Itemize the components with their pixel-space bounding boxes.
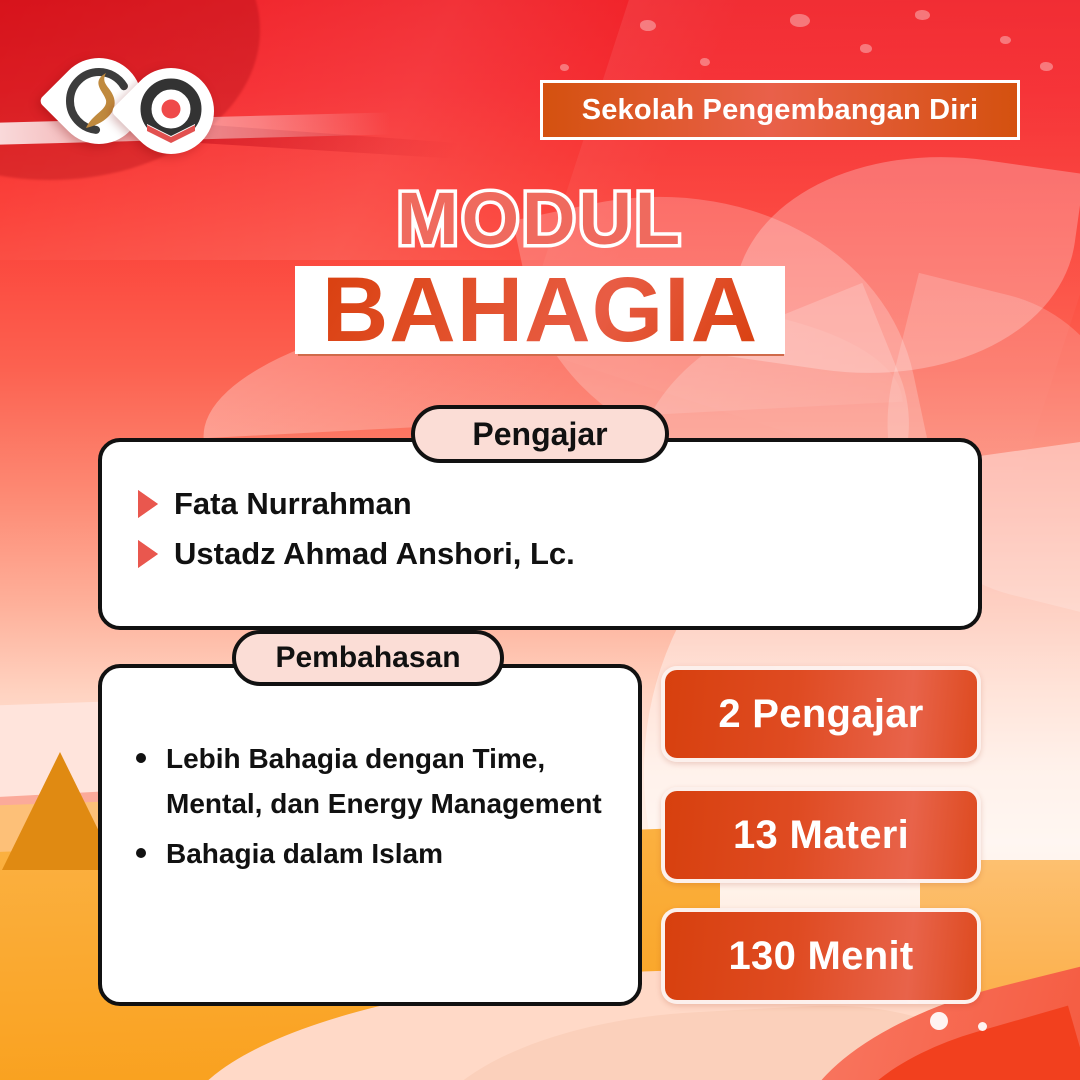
stat-badge-label: 2 Pengajar bbox=[718, 692, 923, 737]
pengajar-section-label: Pengajar bbox=[411, 405, 669, 463]
topic-list: Lebih Bahagia dengan Time, Mental, dan E… bbox=[130, 736, 610, 880]
poster-canvas: Sekolah Pengembangan Diri MODUL BAHAGIA … bbox=[0, 0, 1080, 1080]
stat-badge-label: 13 Materi bbox=[733, 813, 909, 858]
page-eyebrow-title: MODUL bbox=[0, 176, 1080, 261]
background-petal-shape-b bbox=[726, 128, 1080, 402]
background-dot-large bbox=[930, 1012, 948, 1030]
teacher-list: Fata Nurrahman Ustadz Ahmad Anshori, Lc. bbox=[138, 486, 898, 586]
logo-group bbox=[48, 52, 228, 162]
pembahasan-section-label: Pembahasan bbox=[232, 630, 504, 686]
arrow-right-icon bbox=[138, 540, 158, 568]
background-speck-5 bbox=[915, 10, 930, 20]
list-item: Bahagia dalam Islam bbox=[130, 831, 610, 876]
list-item: Fata Nurrahman bbox=[138, 486, 898, 522]
list-item: Lebih Bahagia dengan Time, Mental, dan E… bbox=[130, 736, 610, 827]
page-title-block: BAHAGIA bbox=[295, 266, 785, 354]
stat-badge-menit: 130 Menit bbox=[661, 908, 981, 1004]
target-book-pin-logo bbox=[110, 50, 232, 172]
background-speck-6 bbox=[1000, 36, 1011, 44]
background-speck-2 bbox=[700, 58, 710, 66]
background-coral-arc-inner bbox=[828, 1006, 1080, 1080]
teacher-name: Ustadz Ahmad Anshori, Lc. bbox=[174, 536, 575, 572]
background-speck-1 bbox=[640, 20, 656, 31]
background-speck-7 bbox=[560, 64, 569, 71]
background-speck-3 bbox=[790, 14, 810, 27]
background-speck-8 bbox=[1040, 62, 1053, 71]
stat-badge-pengajar: 2 Pengajar bbox=[661, 666, 981, 762]
page-title-underline bbox=[298, 354, 784, 356]
school-banner-text: Sekolah Pengembangan Diri bbox=[582, 94, 979, 127]
arrow-right-icon bbox=[138, 490, 158, 518]
stat-badge-label: 130 Menit bbox=[729, 934, 914, 979]
stat-badge-materi: 13 Materi bbox=[661, 787, 981, 883]
school-banner: Sekolah Pengembangan Diri bbox=[540, 80, 1020, 140]
background-dot-small bbox=[978, 1022, 987, 1031]
list-item: Ustadz Ahmad Anshori, Lc. bbox=[138, 536, 898, 572]
teacher-name: Fata Nurrahman bbox=[174, 486, 412, 522]
background-bottom-wave-secondary bbox=[417, 997, 983, 1080]
background-speck-4 bbox=[860, 44, 872, 53]
page-title: BAHAGIA bbox=[322, 264, 758, 356]
target-book-icon bbox=[128, 68, 214, 154]
